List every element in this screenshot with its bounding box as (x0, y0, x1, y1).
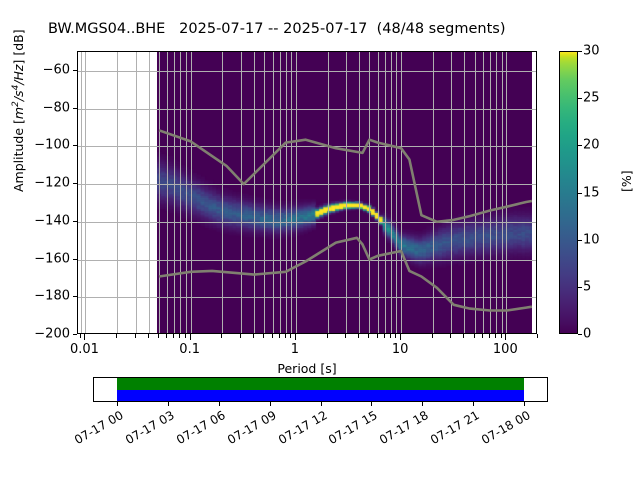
timeline-tick-label: 07-17 03 (123, 409, 175, 447)
timeline-tick (219, 402, 220, 406)
noise-model-curves (78, 52, 536, 333)
colorbar-tick (578, 334, 582, 335)
x-tick-label: 100 (493, 342, 518, 357)
timeline-tick-label: 07-17 18 (377, 409, 429, 447)
colorbar-tick-label: 30 (583, 44, 600, 59)
x-tick (253, 334, 254, 338)
ppsd-axes (77, 51, 537, 334)
x-tick (384, 334, 385, 338)
x-tick (285, 334, 286, 338)
colorbar-tick (578, 287, 582, 288)
timeline-tick (422, 402, 423, 406)
x-tick (148, 334, 149, 338)
x-tick (358, 334, 359, 338)
x-tick (166, 334, 167, 338)
x-tick-label: 0.1 (179, 342, 200, 357)
x-tick-label: 10 (392, 342, 409, 357)
x-tick (377, 334, 378, 338)
x-tick (395, 334, 396, 338)
x-tick (84, 334, 85, 340)
noise-model-nlnm (159, 238, 532, 311)
x-tick (501, 334, 502, 338)
colorbar-tick (578, 51, 582, 52)
colorbar-tick-label: 15 (583, 185, 600, 200)
colorbar-tick-label: 25 (583, 91, 600, 106)
x-tick (345, 334, 346, 338)
x-tick (240, 334, 241, 338)
y-tick (73, 296, 77, 297)
y-tick-label: −120 (34, 176, 70, 191)
x-tick (432, 334, 433, 338)
y-tick-label: −200 (34, 327, 70, 342)
x-tick (185, 334, 186, 338)
ppsd-figure: BW.MGS04..BHE 2025-07-17 -- 2025-07-17 (… (0, 0, 640, 480)
x-tick (221, 334, 222, 338)
y-tick (73, 183, 77, 184)
x-tick (158, 334, 159, 338)
y-tick-label: −160 (34, 251, 70, 266)
timeline-tick-label: 07-17 06 (174, 409, 226, 447)
timeline-tick (473, 402, 474, 406)
timeline-coverage-axes (93, 377, 548, 402)
x-tick (327, 334, 328, 338)
y-tick-label: −80 (43, 100, 70, 115)
timeline-tick (321, 402, 322, 406)
timeline-tick-label: 07-17 21 (428, 409, 480, 447)
timeline-tick (117, 402, 118, 406)
x-tick (537, 334, 538, 338)
timeline-tick-label: 07-17 12 (275, 409, 327, 447)
timeline-tick-label: 07-17 09 (225, 409, 277, 447)
colorbar-tick-label: 10 (583, 232, 600, 247)
x-tick (272, 334, 273, 338)
noise-model-nhnm (159, 130, 532, 222)
x-tick (80, 334, 81, 338)
y-tick (73, 145, 77, 146)
x-tick (450, 334, 451, 338)
x-tick (505, 334, 506, 340)
y-tick (73, 221, 77, 222)
y-axis-title: Amplitude [m2/s4/Hz] [dB] (11, 29, 26, 192)
y-tick (73, 108, 77, 109)
colorbar-tick (578, 98, 582, 99)
x-tick (190, 334, 191, 340)
timeline-coverage-band (117, 390, 524, 402)
x-tick (263, 334, 264, 338)
x-tick (368, 334, 369, 338)
colorbar-tick (578, 145, 582, 146)
x-tick (173, 334, 174, 338)
colorbar-tick (578, 193, 582, 194)
x-tick (290, 334, 291, 338)
x-tick (135, 334, 136, 338)
x-tick (495, 334, 496, 338)
colorbar-title: [%] (619, 170, 634, 192)
y-tick-label: −60 (43, 62, 70, 77)
timeline-data-band (117, 378, 524, 390)
page-title: BW.MGS04..BHE 2025-07-17 -- 2025-07-17 (… (48, 21, 505, 37)
timeline-coverage-fill (117, 378, 524, 401)
x-tick (295, 334, 296, 340)
x-axis-title: Period [s] (277, 361, 336, 376)
timeline-tick (371, 402, 372, 406)
x-tick (463, 334, 464, 338)
x-tick (390, 334, 391, 338)
colorbar-tick-label: 0 (583, 327, 591, 342)
y-tick-label: −100 (34, 138, 70, 153)
x-tick (279, 334, 280, 338)
colorbar-tick (578, 240, 582, 241)
timeline-tick-label: 07-17 15 (326, 409, 378, 447)
y-tick (73, 334, 77, 335)
timeline-tick (524, 402, 525, 406)
timeline-tick-label: 07-18 00 (479, 409, 531, 447)
x-tick (400, 334, 401, 340)
colorbar (559, 51, 578, 334)
x-tick-label: 1 (291, 342, 299, 357)
x-tick-label: 0.01 (70, 342, 99, 357)
x-tick (179, 334, 180, 338)
x-tick (116, 334, 117, 338)
y-tick (73, 259, 77, 260)
x-tick (482, 334, 483, 338)
timeline-tick (270, 402, 271, 406)
x-tick (489, 334, 490, 338)
y-tick (73, 70, 77, 71)
colorbar-tick-label: 20 (583, 138, 600, 153)
y-tick-label: −180 (34, 289, 70, 304)
plot-clip (78, 52, 536, 333)
timeline-tick-label: 07-17 00 (72, 409, 124, 447)
x-tick (474, 334, 475, 338)
y-tick-label: −140 (34, 213, 70, 228)
timeline-tick (168, 402, 169, 406)
colorbar-tick-label: 5 (583, 279, 591, 294)
